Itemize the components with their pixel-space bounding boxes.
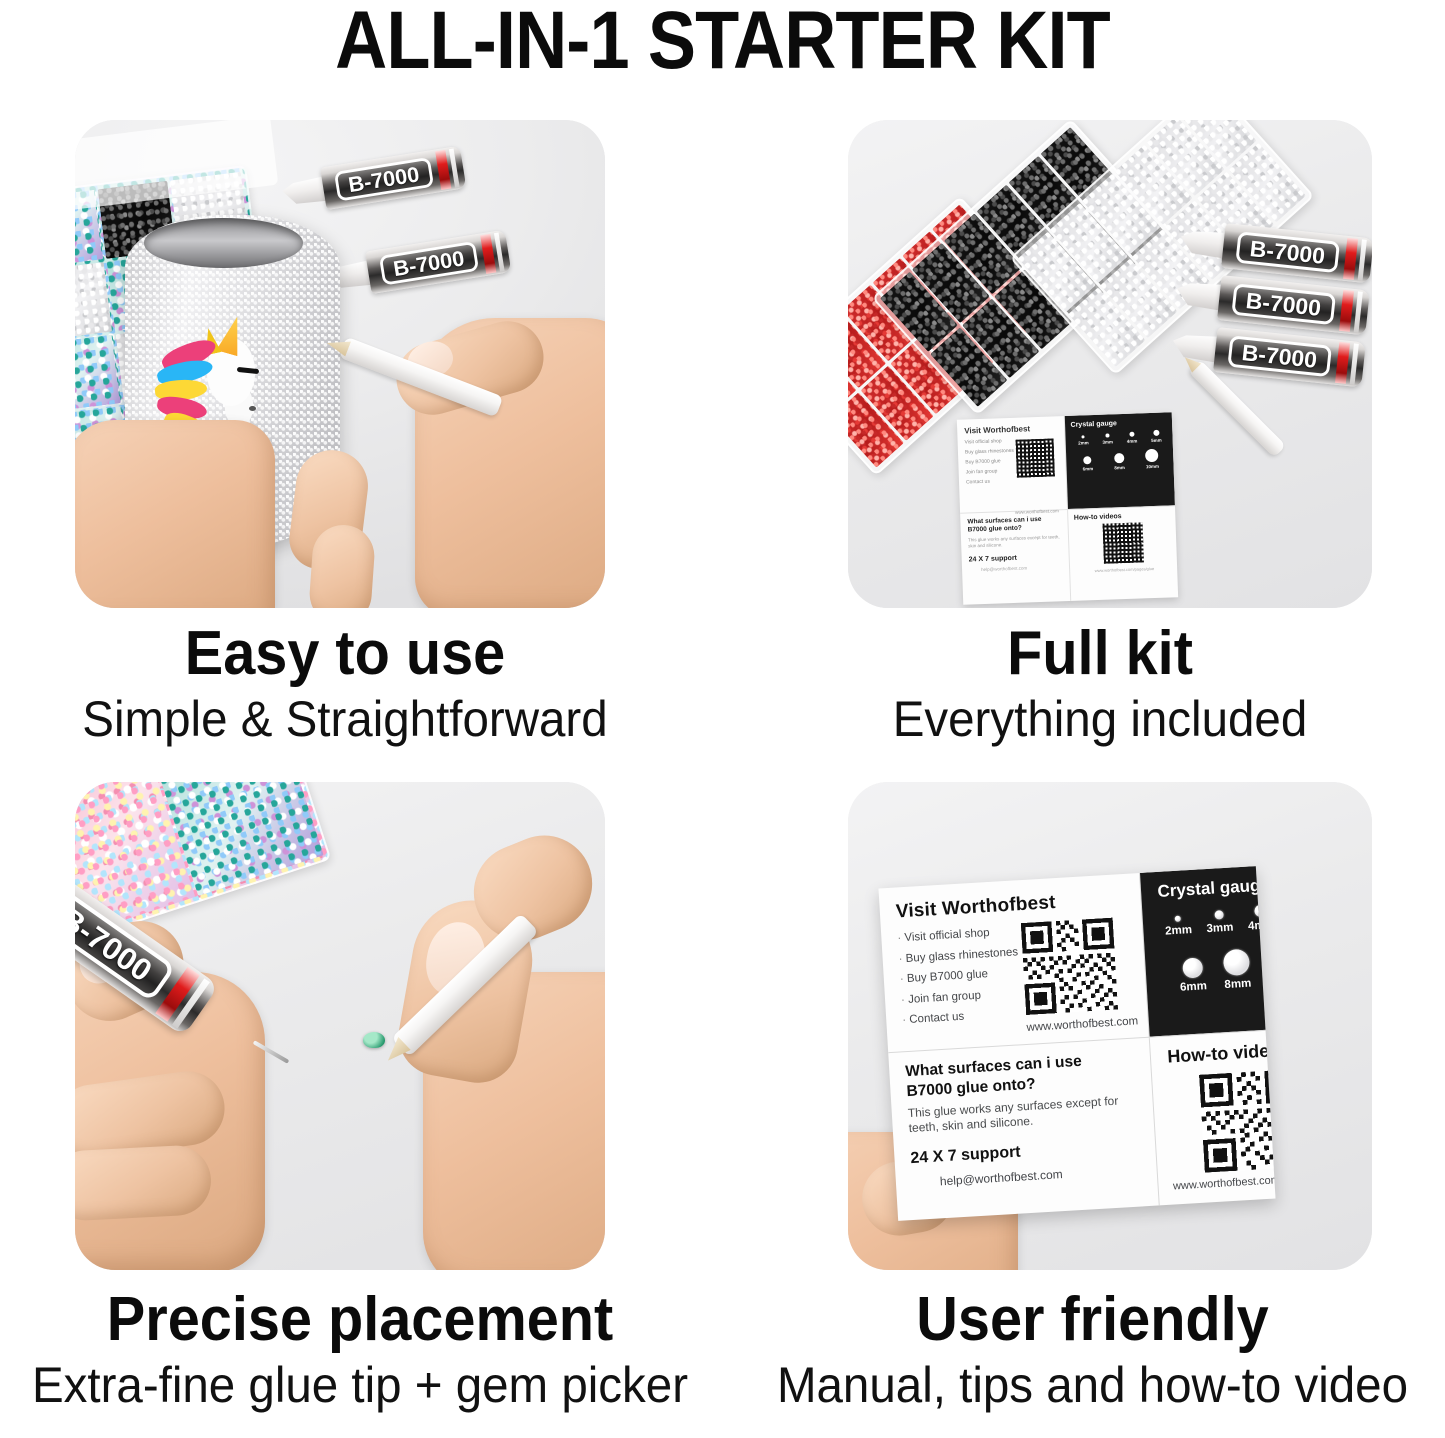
gauge-row-top: 2mm 3mm 4mm 5mm <box>1157 898 1276 938</box>
crystal-dot-icon <box>1223 949 1250 976</box>
card-bullet-glue: Buy B7000 glue <box>900 966 1020 985</box>
glue-tube-label: B-7000 <box>347 161 422 197</box>
page-title: ALL-IN-1 STARTER KIT <box>87 0 1359 88</box>
panel-precise-placement: B-7000 <box>75 782 605 1270</box>
crystal-dot-icon <box>1175 916 1181 922</box>
gauge-label: 5mm <box>1151 438 1162 443</box>
caption-headline: Full kit <box>779 622 1421 686</box>
card-bullet-fangroup: Join fan group <box>901 987 1021 1006</box>
gauge-label: 4mm <box>1127 439 1138 444</box>
caption-full-kit: Full kit Everything included <box>755 622 1445 746</box>
card-support: 24 X 7 support <box>969 553 1065 563</box>
caption-subtext: Manual, tips and how-to video <box>758 1358 1428 1412</box>
card-videos-heading: How-to videos <box>1167 1037 1276 1068</box>
caption-user-friendly: User friendly Manual, tips and how-to vi… <box>740 1288 1445 1412</box>
panel-full-kit: B-7000 B-7000 B-7000 Visit Worthofbest V… <box>848 120 1372 608</box>
qr-code-icon <box>1020 918 1117 1015</box>
caption-headline: User friendly <box>765 1288 1421 1352</box>
card-surfaces-section: What surfaces can i use B7000 glue onto?… <box>888 1037 1160 1221</box>
gauge-item: 8mm <box>1222 949 1251 992</box>
caption-subtext: Everything included <box>772 692 1428 746</box>
glue-tube-label: B-7000 <box>1241 339 1319 373</box>
hand-holding-tumbler <box>75 420 275 608</box>
caption-subtext: Extra-fine glue tip + gem picker <box>18 1358 702 1412</box>
card-visit-url: www.worthofbest.com <box>1026 1015 1138 1034</box>
card-answer: This glue works any surfaces except for … <box>968 534 1064 549</box>
panel-user-friendly: Visit Worthofbest Visit official shop Bu… <box>848 782 1372 1270</box>
gauge-label: 10mm <box>1146 464 1159 469</box>
caption-precise-placement: Precise placement Extra-fine glue tip + … <box>0 1288 720 1412</box>
instruction-card: Visit Worthofbest Visit official shop Bu… <box>878 866 1275 1221</box>
card-bullet-contact: Contact us <box>902 1007 1022 1026</box>
crystal-dot-icon <box>1182 957 1203 978</box>
gauge-label: 2mm <box>1078 440 1089 445</box>
card-bullet: Contact us <box>966 476 1062 485</box>
ring-finger <box>75 1144 213 1222</box>
info-card-small: Visit Worthofbest Visit official shop Bu… <box>957 412 1178 604</box>
tumbler-rim <box>144 218 303 268</box>
gauge-item: 2mm <box>1164 915 1192 938</box>
gauge-row-bottom: 6mm 8mm 10mm <box>1159 938 1276 995</box>
gauge-label-2mm: 2mm <box>1165 924 1193 938</box>
caption-headline: Easy to use <box>24 622 666 686</box>
glue-tube-label: B-7000 <box>1249 235 1327 269</box>
card-videos-section: How-to videos <box>1150 1025 1275 1205</box>
qr-code-icon <box>1199 1069 1275 1173</box>
gauge-heading: Crystal gauge <box>1070 418 1168 428</box>
qr-code-icon <box>1103 522 1144 563</box>
glue-tube-label: B-7000 <box>1245 287 1323 321</box>
glue-tube-label: B-7000 <box>392 245 467 281</box>
gauge-item: 3mm <box>1206 910 1234 936</box>
card-email: help@worthofbest.com <box>981 564 1065 572</box>
caption-easy-to-use: Easy to use Simple & Straightforward <box>0 622 690 746</box>
gauge-label-3mm: 3mm <box>1206 922 1234 936</box>
gauge-label: 6mm <box>1083 466 1094 471</box>
gauge-label-6mm: 6mm <box>1180 980 1208 994</box>
card-videos-heading: How-to videos <box>1074 511 1172 521</box>
gauge-label: 8mm <box>1114 465 1125 470</box>
card-support-email: help@worthofbest.com <box>940 1162 1148 1188</box>
card-visit-section: Visit Worthofbest Visit official shop Bu… <box>878 873 1150 1052</box>
card-crystal-gauge-section: Crystal gauge 2mm 3mm 4mm <box>1140 866 1275 1037</box>
caption-subtext: Simple & Straightforward <box>17 692 673 746</box>
card-bullet-rhinestones: Buy glass rhinestones <box>898 946 1018 965</box>
card-bullet-shop: Visit official shop <box>897 925 1017 944</box>
green-gem <box>363 1032 385 1048</box>
gauge-label-8mm: 8mm <box>1224 978 1252 992</box>
gauge-label: 3mm <box>1102 439 1113 444</box>
panel-easy-to-use: B-7000 B-7000 <box>75 120 605 608</box>
caption-headline: Precise placement <box>25 1288 695 1352</box>
gauge-item: 6mm <box>1178 957 1207 994</box>
crystal-dot-icon <box>1214 910 1224 920</box>
qr-code-icon <box>1016 438 1055 477</box>
card-visit-heading: Visit Worthofbest <box>964 423 1060 435</box>
card-videos-url: www.worthofbest.com/pages/glue <box>1173 1171 1276 1193</box>
card-videos-url: www.worthofbest.com/pages/glue <box>1076 565 1174 573</box>
